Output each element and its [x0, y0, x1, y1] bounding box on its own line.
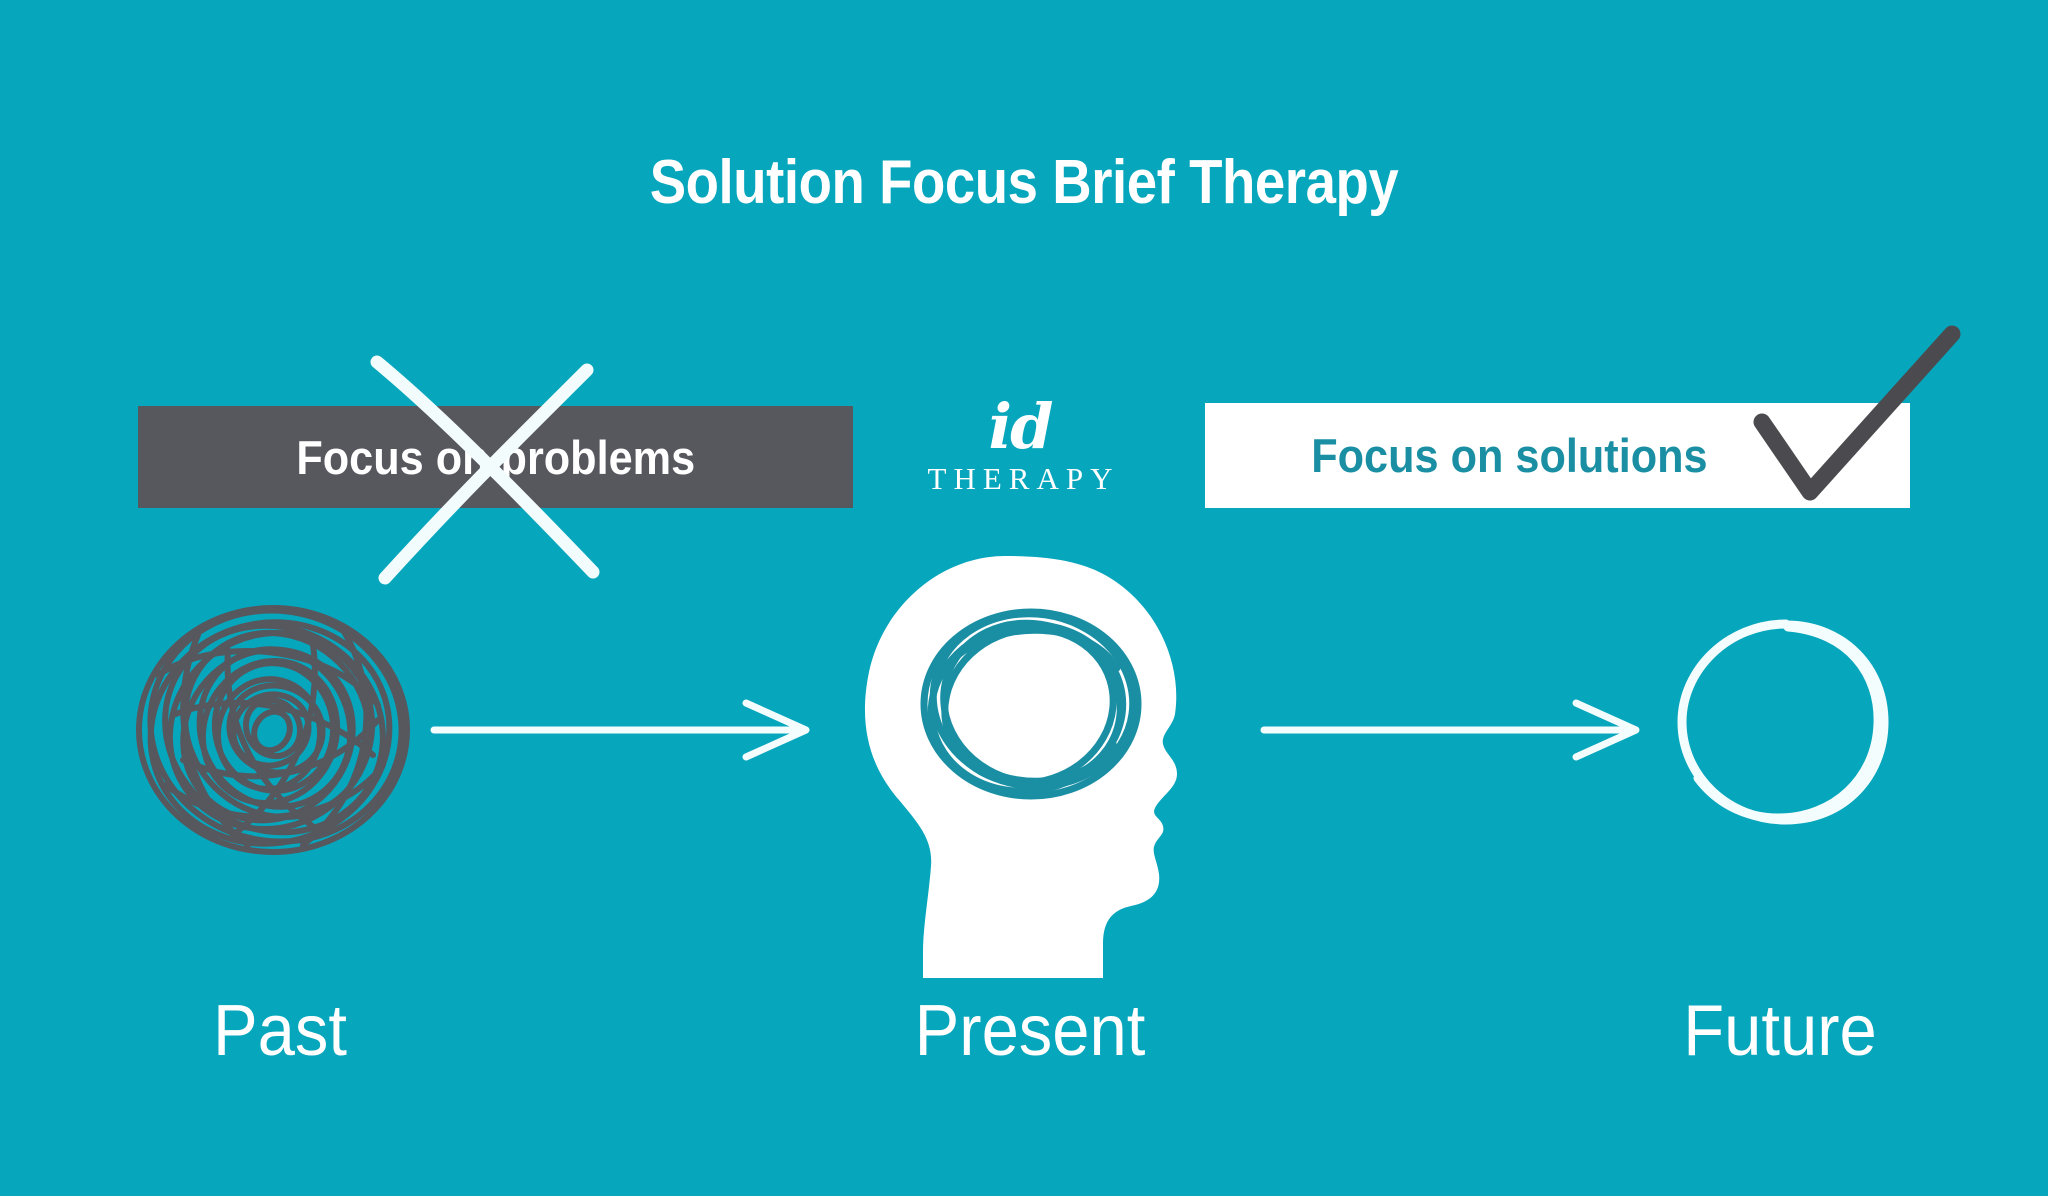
page-title: Solution Focus Brief Therapy — [123, 152, 1925, 214]
infographic-canvas: Solution Focus Brief Therapy Focus on pr… — [0, 0, 2048, 1196]
tangled-scribble-icon — [128, 595, 418, 865]
arrow-present-to-future — [1258, 695, 1648, 765]
brand-logo: id THERAPY — [895, 398, 1145, 497]
logo-word-therapy: THERAPY — [895, 461, 1145, 497]
logo-mark-id: id — [895, 398, 1145, 457]
banner-focus-on-problems: Focus on problems — [138, 406, 853, 508]
arrow-past-to-present — [428, 695, 818, 765]
banner-problems-label: Focus on problems — [296, 430, 695, 485]
stage-caption-future: Future — [1594, 995, 1966, 1067]
head-profile-icon — [855, 548, 1205, 978]
banner-focus-on-solutions: Focus on solutions — [1205, 403, 1910, 508]
stage-caption-past: Past — [94, 995, 466, 1067]
stage-caption-present: Present — [844, 995, 1216, 1067]
banner-solutions-label: Focus on solutions — [1311, 428, 1707, 483]
drawn-circle-icon — [1668, 612, 1898, 832]
